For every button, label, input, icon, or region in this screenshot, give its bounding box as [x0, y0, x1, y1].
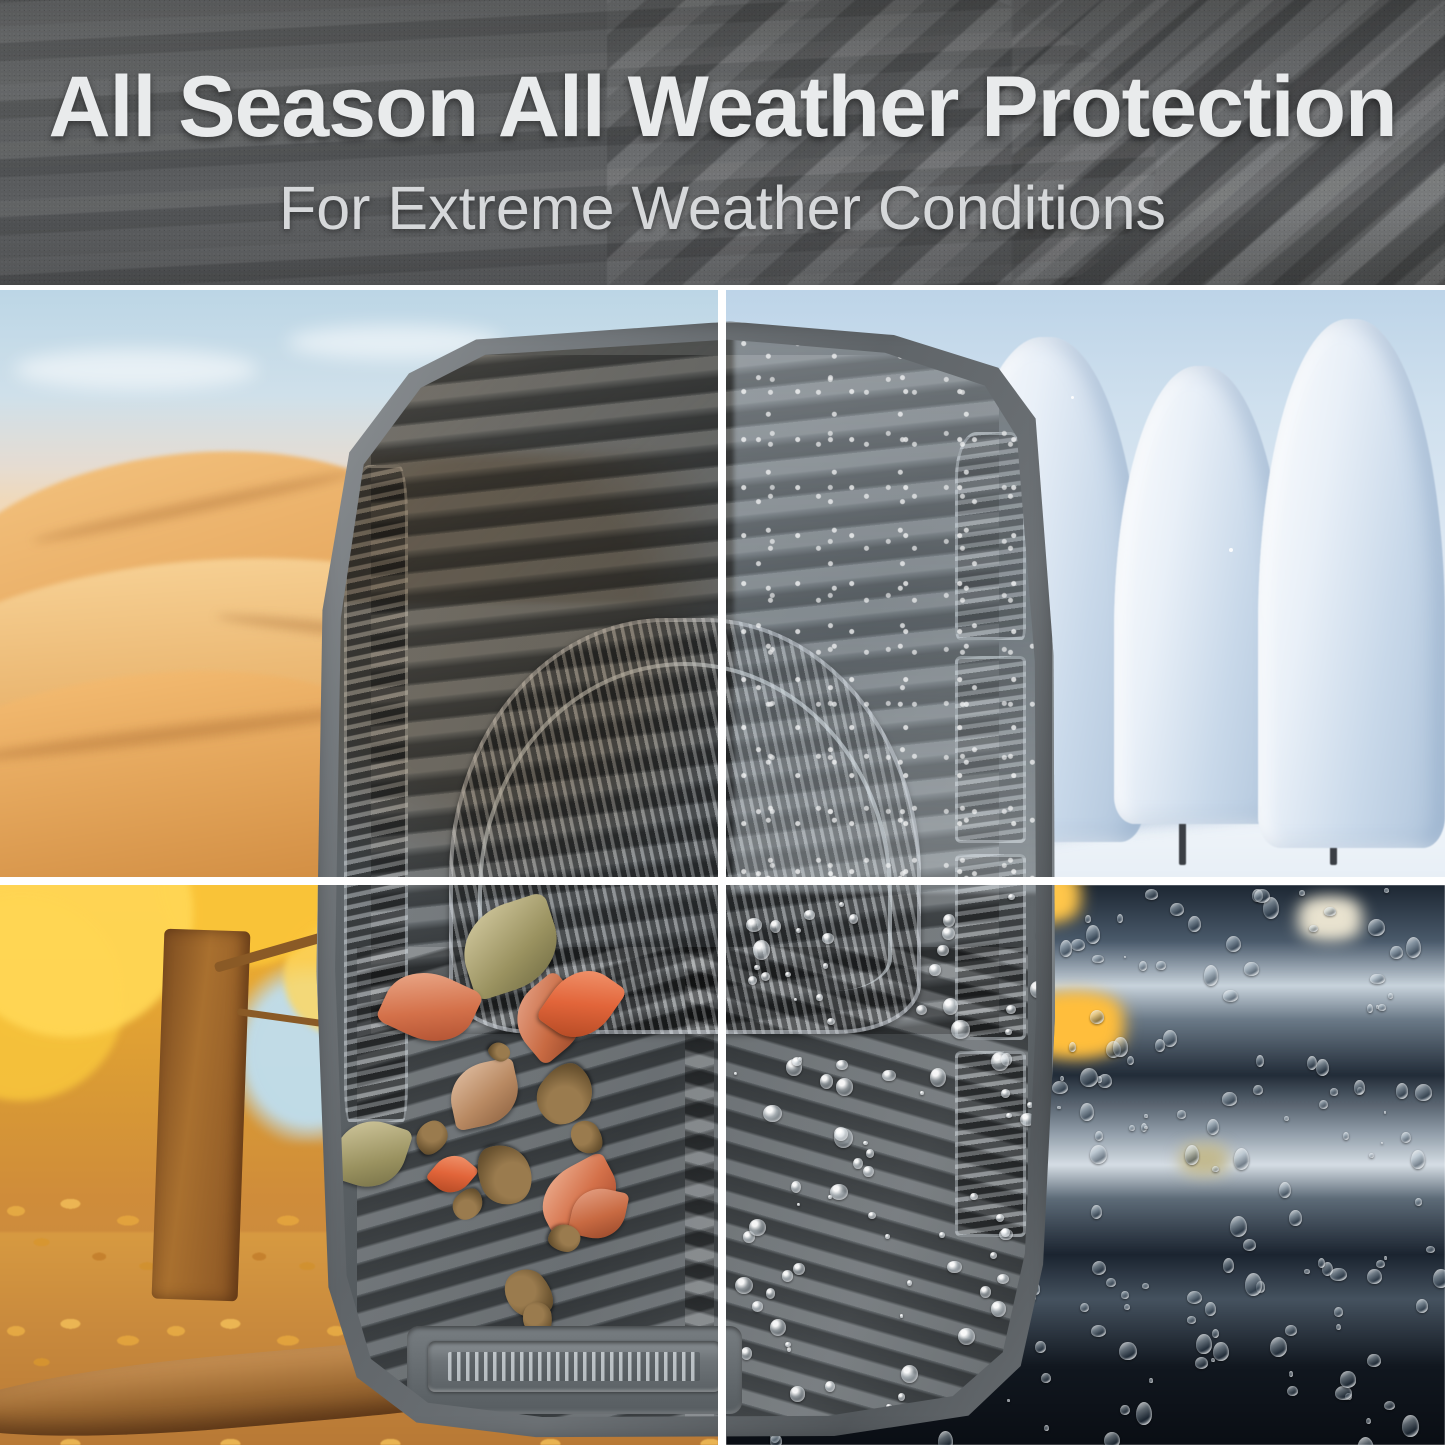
water-bead	[770, 1319, 786, 1336]
cloud	[14, 349, 258, 390]
rain-droplet	[1244, 962, 1258, 975]
rain-droplet	[1309, 925, 1318, 932]
dry-leaf	[328, 1111, 414, 1197]
rain-droplet	[1415, 1084, 1432, 1100]
right-panel-segment	[955, 656, 1026, 842]
rain-droplet	[1144, 1126, 1148, 1129]
rain-droplet	[1144, 1114, 1148, 1119]
rain-droplet	[1426, 1246, 1435, 1253]
water-bead	[735, 1277, 754, 1295]
rain-droplet	[1136, 1402, 1152, 1426]
rain-droplet	[1416, 1299, 1428, 1312]
rain-droplet	[1370, 974, 1384, 985]
rain-droplet	[1185, 1145, 1200, 1165]
rain-droplet	[1060, 940, 1072, 957]
snowflake	[1071, 396, 1074, 399]
rain-droplet	[1243, 1239, 1256, 1252]
water-bead	[787, 1347, 791, 1352]
rain-droplet	[1057, 1106, 1061, 1109]
water-bead	[766, 1288, 776, 1299]
rain-droplet	[1376, 1260, 1385, 1268]
rain-droplet	[1367, 1354, 1380, 1367]
water-bead	[1005, 1029, 1011, 1035]
rain-droplet	[1212, 1166, 1219, 1172]
rain-droplet	[1129, 1125, 1135, 1131]
rain-droplet	[1155, 1039, 1165, 1052]
water-bead	[920, 1091, 924, 1096]
water-bead	[822, 933, 834, 944]
water-bead	[820, 1074, 834, 1089]
rain-droplet	[1285, 1325, 1297, 1336]
rain-droplet	[1366, 1418, 1371, 1424]
rain-droplet	[1223, 1258, 1234, 1273]
water-bead	[849, 914, 858, 924]
rain-droplet	[1299, 890, 1305, 896]
rain-droplet	[1090, 1145, 1108, 1165]
rain-droplet	[1095, 1131, 1103, 1140]
rain-droplet	[1289, 1371, 1294, 1377]
rain-droplet	[1213, 1342, 1229, 1361]
rain-droplet	[1127, 1056, 1134, 1065]
rain-droplet	[1304, 1269, 1310, 1274]
rain-droplet	[1170, 903, 1184, 916]
rain-droplet	[1195, 1357, 1209, 1370]
water-bead	[898, 1393, 905, 1401]
rain-droplet	[1367, 1269, 1381, 1284]
rain-droplet	[1402, 1415, 1419, 1437]
rain-droplet	[1384, 1111, 1386, 1114]
rain-droplet	[1357, 1437, 1375, 1445]
water-bead	[839, 902, 844, 907]
water-bead	[853, 1158, 863, 1169]
rain-droplet	[1307, 1056, 1317, 1070]
rain-droplet	[1324, 907, 1336, 916]
brand-badge-text	[448, 1352, 700, 1380]
rain-droplet	[1378, 1004, 1386, 1010]
rain-droplet	[1207, 1119, 1219, 1135]
water-bead	[980, 1286, 991, 1297]
water-bead	[791, 1181, 801, 1193]
rain-droplet	[1319, 1100, 1328, 1109]
rain-droplet	[1092, 1261, 1106, 1275]
water-bead	[970, 1193, 977, 1200]
rain-droplet	[1384, 1401, 1395, 1410]
water-bead	[947, 1261, 962, 1274]
rain-droplet	[1336, 1324, 1341, 1330]
quadrant-divider-vertical	[718, 290, 726, 1445]
quadrant-divider-horizontal	[0, 877, 1445, 885]
rain-droplet	[1254, 889, 1270, 903]
water-bead	[836, 1060, 847, 1071]
rain-droplet	[1284, 1116, 1289, 1121]
product-marketing-image: All Season All Weather Protection For Ex…	[0, 0, 1445, 1445]
snow-covered-pine	[1258, 319, 1445, 847]
water-bead	[943, 998, 958, 1014]
rain-droplet	[1121, 1291, 1128, 1299]
water-bead	[937, 945, 949, 957]
rain-droplet	[1090, 1010, 1104, 1024]
water-bead	[907, 1280, 913, 1287]
rain-droplet	[1354, 1080, 1365, 1095]
water-bead	[741, 1347, 752, 1360]
water-bead	[1006, 1113, 1012, 1118]
rain-droplet	[1124, 956, 1126, 958]
rain-droplet	[1120, 1405, 1130, 1415]
rain-droplet	[1086, 925, 1100, 943]
water-bead	[825, 1381, 836, 1392]
water-bead	[990, 1252, 997, 1259]
water-bead	[882, 1070, 896, 1082]
rain-droplet	[1196, 1334, 1211, 1354]
rain-droplet	[1145, 889, 1159, 900]
rain-droplet	[1289, 1210, 1302, 1225]
rain-droplet	[1230, 1216, 1247, 1237]
rain-droplet	[1205, 1302, 1216, 1315]
water-bead	[1037, 928, 1042, 942]
rain-droplet	[1163, 1030, 1177, 1047]
rain-droplet	[1069, 1042, 1076, 1052]
rain-droplet	[1119, 1342, 1137, 1360]
right-panel-segment	[955, 432, 1026, 640]
water-bead	[1001, 1228, 1010, 1237]
rain-droplet	[938, 1431, 953, 1445]
water-bead	[748, 976, 757, 985]
water-bead	[930, 1068, 946, 1087]
water-bead	[749, 1219, 766, 1236]
water-bead	[734, 1072, 737, 1075]
rain-droplet	[1106, 1278, 1116, 1287]
rain-droplet	[1007, 1399, 1010, 1402]
rain-droplet	[1330, 1268, 1347, 1282]
rain-droplet	[1411, 1150, 1425, 1169]
water-bead	[863, 1166, 873, 1177]
water-bead	[996, 1214, 1004, 1221]
water-bead	[1001, 1089, 1010, 1098]
rain-droplet	[1060, 1076, 1064, 1081]
rain-droplet	[1334, 1307, 1344, 1317]
header-banner: All Season All Weather Protection For Ex…	[0, 0, 1445, 285]
water-bead	[763, 1105, 781, 1122]
water-bead	[868, 1212, 876, 1219]
rain-droplet	[1052, 1081, 1067, 1094]
rain-droplet	[1091, 1205, 1102, 1219]
water-bead	[939, 1232, 945, 1238]
rain-droplet	[1091, 1325, 1106, 1337]
rain-droplet	[1318, 1258, 1326, 1268]
rain-droplet	[1204, 965, 1219, 986]
rain-droplet	[1396, 1083, 1409, 1099]
water-bead	[1008, 894, 1015, 900]
rain-droplet	[1142, 1283, 1149, 1289]
water-bead	[991, 1301, 1006, 1317]
water-bead	[929, 964, 940, 975]
water-bead	[794, 998, 797, 1001]
water-bead	[785, 972, 790, 977]
rain-droplet	[1316, 1059, 1329, 1076]
water-bead	[827, 1018, 835, 1025]
rain-droplet	[1367, 1004, 1374, 1013]
rain-droplet	[1104, 1432, 1120, 1445]
rain-droplet	[1080, 1103, 1094, 1121]
rain-droplet	[1384, 888, 1389, 892]
rain-droplet	[1085, 915, 1091, 923]
water-bead	[824, 1420, 838, 1429]
water-bead	[886, 1404, 892, 1410]
rain-droplet	[1287, 1386, 1298, 1396]
rain-droplet	[1406, 937, 1421, 958]
rain-droplet	[1390, 946, 1403, 960]
rain-droplet	[1433, 1269, 1445, 1288]
water-bead	[943, 914, 955, 927]
rain-droplet	[1388, 993, 1393, 998]
water-bead	[828, 1195, 832, 1199]
rain-droplet	[1245, 1273, 1262, 1295]
water-bead	[823, 963, 829, 969]
page-title: All Season All Weather Protection	[0, 64, 1445, 150]
rain-droplet	[1071, 939, 1085, 951]
rain-droplet	[1124, 1304, 1131, 1311]
water-bead	[1030, 981, 1042, 998]
water-bead	[782, 1270, 794, 1281]
rain-droplet	[1335, 1386, 1351, 1400]
water-bead	[753, 940, 770, 960]
rain-droplet	[1035, 1341, 1046, 1353]
water-bead	[916, 1005, 927, 1015]
water-bead	[901, 1365, 918, 1383]
water-bead	[816, 994, 822, 1001]
rain-droplet	[1279, 1182, 1291, 1198]
rain-droplet	[1113, 1037, 1128, 1056]
brand-badge	[428, 1341, 721, 1391]
page-subtitle: For Extreme Weather Conditions	[0, 178, 1445, 239]
water-bead	[761, 972, 770, 981]
water-bead	[830, 1184, 848, 1200]
rain-droplet	[1187, 1316, 1196, 1323]
water-bead	[958, 1328, 975, 1345]
rain-droplet	[1177, 1110, 1186, 1118]
rain-droplet	[1226, 936, 1241, 952]
rain-droplet	[1415, 1198, 1422, 1205]
rain-droplet	[1234, 1148, 1249, 1169]
water-bead-layer	[734, 893, 1042, 1429]
water-bead	[1027, 1102, 1032, 1108]
rain-droplet	[1188, 916, 1201, 932]
water-bead	[797, 1203, 800, 1207]
water-bead	[792, 1057, 802, 1066]
water-bead	[866, 1149, 874, 1158]
water-bead	[770, 920, 781, 933]
water-bead	[796, 928, 801, 933]
rain-droplet	[1212, 1329, 1219, 1338]
water-bead	[752, 1301, 763, 1312]
water-bead	[1030, 1232, 1042, 1251]
rain-droplet	[1041, 1373, 1051, 1383]
water-bead	[746, 918, 762, 932]
rain-droplet	[1139, 961, 1147, 970]
water-bead	[942, 927, 955, 940]
rain-droplet	[1117, 914, 1123, 923]
rain-droplet	[1270, 1337, 1287, 1357]
water-bead	[991, 1052, 1008, 1071]
water-bead	[1020, 1113, 1035, 1126]
rain-droplet	[1080, 1303, 1089, 1312]
water-bead	[972, 1391, 981, 1401]
water-bead	[754, 965, 759, 971]
water-bead	[804, 910, 814, 919]
water-bead	[997, 1274, 1010, 1285]
rain-droplet	[1223, 990, 1237, 1002]
water-bead	[900, 1314, 903, 1317]
rain-droplet	[1343, 1132, 1349, 1140]
rain-droplet	[1368, 919, 1385, 936]
water-bead	[793, 1263, 804, 1275]
rain-droplet	[1369, 1153, 1374, 1158]
rain-droplet	[1080, 1068, 1098, 1087]
water-bead	[951, 1020, 969, 1039]
water-bead	[1006, 1005, 1016, 1015]
rain-droplet	[1092, 955, 1104, 964]
rain-droplet	[1340, 1371, 1357, 1387]
rain-droplet	[1156, 961, 1165, 970]
water-bead	[863, 1141, 868, 1146]
broken-tree-trunk	[152, 928, 251, 1300]
rain-droplet	[1401, 1132, 1411, 1143]
rain-droplet	[1381, 1142, 1383, 1144]
rain-droplet	[1256, 1055, 1264, 1067]
rain-droplet	[1187, 1291, 1202, 1304]
water-bead	[836, 1078, 854, 1096]
mud-clump	[410, 1115, 454, 1161]
rain-droplet	[1330, 1088, 1339, 1095]
water-bead	[790, 1386, 806, 1401]
rain-droplet	[1044, 1425, 1049, 1431]
dry-leaf	[444, 1057, 524, 1132]
rain-droplet	[1149, 1378, 1153, 1382]
rain-droplet	[1384, 1256, 1387, 1260]
rain-droplet	[1222, 1092, 1236, 1105]
water-bead	[1037, 1189, 1042, 1208]
water-bead	[885, 1234, 890, 1239]
rain-droplet	[1253, 1085, 1263, 1095]
